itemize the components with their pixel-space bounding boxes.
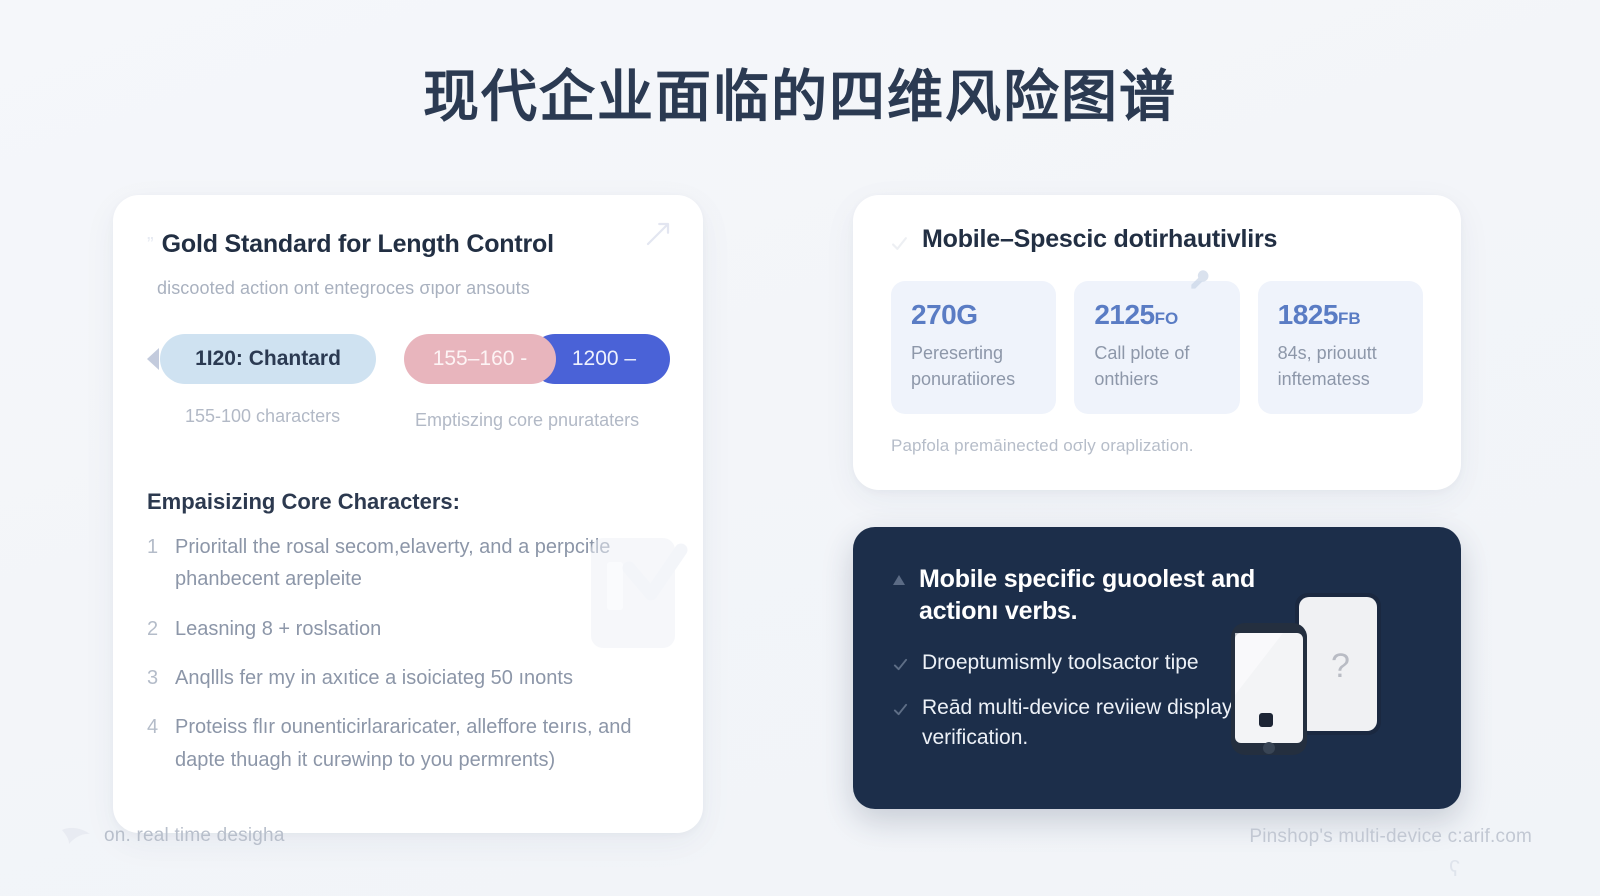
left-card-subtitle: discooted action ont entegroces σιpor an… xyxy=(157,278,669,299)
stat-value-wrap: 270G xyxy=(911,299,1036,331)
right-card-header: Mobile–Spescic dotirhautivlirs xyxy=(891,223,1423,254)
stat-value-wrap: 1825FB xyxy=(1278,299,1403,331)
list-item-text: Prioritall the rosal secom,elaverty, and… xyxy=(175,531,645,596)
list-item: 2 Leasning 8 + roslsation xyxy=(147,613,669,645)
stat-box[interactable]: 1825FB 84s, priouutt inftematess xyxy=(1258,281,1423,414)
list-item-number: 3 xyxy=(147,662,161,694)
stat-label: 84s, priouutt inftematess xyxy=(1278,341,1403,392)
list-item: 3 Anqllls fer my in axıtice a isoiciateg… xyxy=(147,662,669,694)
stat-value: 270G xyxy=(911,299,978,330)
page-title: 现代企业面临的四维风险图谱 xyxy=(0,52,1600,133)
length-pill-row: 1I20: Chantard 155–160 - 1200 – xyxy=(147,334,669,384)
check-icon xyxy=(891,235,908,252)
stat-label: Call plote of onthiers xyxy=(1094,341,1219,392)
left-card-header: ” Gold Standard for Length Control xyxy=(147,225,669,259)
list-item-text: Droeptumismly toolsactor tipe xyxy=(922,648,1199,678)
check-icon xyxy=(893,702,908,717)
trending-up-arrow-icon xyxy=(643,219,673,249)
list-heading: Empaisizing Core Characters: xyxy=(147,489,669,515)
stat-value: 1825 xyxy=(1278,299,1338,330)
bird-icon xyxy=(60,824,94,848)
stat-value-wrap: 2125FO xyxy=(1094,299,1219,331)
caption-core: Emptiszing core pnurataters xyxy=(415,406,645,435)
wrench-icon xyxy=(1187,267,1213,293)
right-card-footnote: Papfola premāinected oσly oraplization. xyxy=(891,436,1423,456)
list-item-number: 4 xyxy=(147,711,161,776)
list-item: 1 Prioritall the rosal secom,elaverty, a… xyxy=(147,531,669,596)
svg-text:?: ? xyxy=(1331,647,1350,685)
footer-left-text: on. real time desigha xyxy=(104,825,285,847)
mobile-verbs-card: ? Mobile specific guoolest and actionı v… xyxy=(853,527,1461,809)
stat-unit: FO xyxy=(1155,309,1179,328)
mobile-specific-card: Mobile–Spescic dotirhautivlirs 270G Pere… xyxy=(853,195,1461,490)
list-item-number: 2 xyxy=(147,613,161,645)
triangle-up-icon xyxy=(893,575,905,585)
left-card-title: Gold Standard for Length Control xyxy=(162,225,554,259)
stat-row: 270G Pereserting ponuratiiores 2125FO Ca… xyxy=(891,281,1423,414)
pill-range-group: 155–160 - 1200 – xyxy=(404,334,670,384)
caption-characters: 155-100 characters xyxy=(147,406,415,435)
length-control-card: ” Gold Standard for Length Control disco… xyxy=(113,195,703,833)
footer-left: on. real time desigha xyxy=(60,824,285,848)
footer-glyph: ʕ xyxy=(1449,856,1460,882)
pill-standard[interactable]: 1I20: Chantard xyxy=(160,334,376,384)
list-item: 4 Proteiss flır ounenticirlararicater, a… xyxy=(147,711,669,776)
check-icon xyxy=(893,657,908,672)
stat-unit: FB xyxy=(1338,309,1361,328)
left-column: ” Gold Standard for Length Control disco… xyxy=(113,195,703,833)
list-item-number: 1 xyxy=(147,531,161,596)
pill-caption-row: 155-100 characters Emptiszing core pnura… xyxy=(147,406,669,435)
two-phones-illustration: ? xyxy=(1213,585,1403,760)
list-item-text: Proteiss flır ounenticirlararicater, all… xyxy=(175,711,645,776)
stat-value: 2125 xyxy=(1094,299,1154,330)
right-card-title: Mobile–Spescic dotirhautivlirs xyxy=(922,223,1277,254)
right-column: Mobile–Spescic dotirhautivlirs 270G Pere… xyxy=(853,195,1461,809)
numbered-list: 1 Prioritall the rosal secom,elaverty, a… xyxy=(147,531,669,776)
quote-mark: ” xyxy=(147,235,154,255)
pill-range-low[interactable]: 155–160 - xyxy=(404,334,556,384)
stat-box[interactable]: 270G Pereserting ponuratiiores xyxy=(891,281,1056,414)
footer-right-text: Pinshop's multi-device c:arif.com xyxy=(1249,826,1532,848)
stat-label: Pereserting ponuratiiores xyxy=(911,341,1036,392)
stat-box[interactable]: 2125FO Call plote of onthiers xyxy=(1074,281,1239,414)
caret-left-icon xyxy=(147,348,159,370)
list-item-text: Anqllls fer my in axıtice a isoiciateg 5… xyxy=(175,662,573,694)
list-item-text: Leasning 8 + roslsation xyxy=(175,613,381,645)
